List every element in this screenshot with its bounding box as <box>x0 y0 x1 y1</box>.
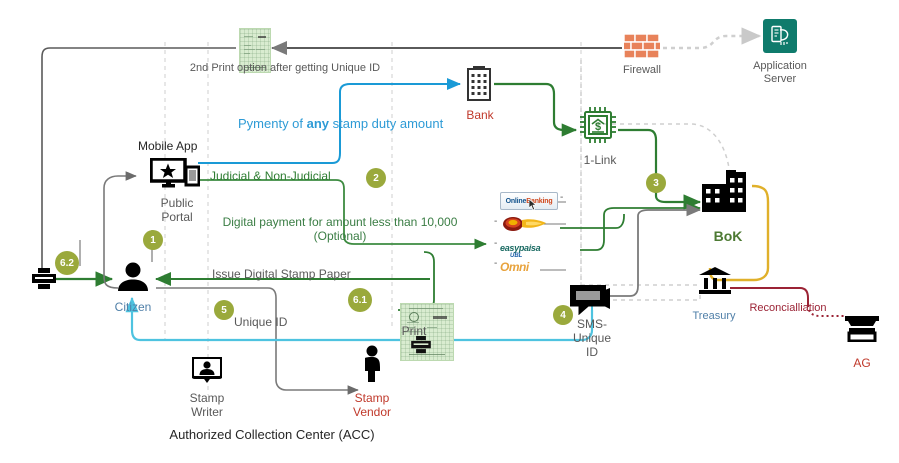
printer-left-icon <box>32 268 56 295</box>
edge-gateway-green-right <box>560 214 624 228</box>
logo-bullet-3: - <box>494 238 497 250</box>
print-top-caption: 2nd Print option after getting Unique ID <box>190 62 380 75</box>
stamp-writer-caption: Stamp Writer <box>190 392 225 420</box>
mobile-app-icon <box>150 158 200 195</box>
citizen-caption: Citizen <box>115 301 152 315</box>
sms-icon <box>570 285 612 320</box>
jazzcash-glyph <box>502 216 548 232</box>
one-link-icon: $ <box>578 104 618 151</box>
omni-label: Omni <box>500 260 529 274</box>
treasury-icon <box>698 267 732 300</box>
edge-unique-id-to-vendor <box>156 288 358 390</box>
stamp-writer-line1: Stamp <box>190 392 225 406</box>
bok-caption: BoK <box>714 228 743 244</box>
payment-any-emphasis: any <box>307 116 329 131</box>
badge-1: 1 <box>143 230 163 250</box>
badge-5: 5 <box>214 300 234 320</box>
badge-6-1: 6.1 <box>348 288 372 312</box>
judicial-label: Judicial & Non-Judicial <box>210 170 331 184</box>
badge-2: 2 <box>366 168 386 188</box>
app-server-caption: Application Server <box>753 60 807 85</box>
payment-any-prefix: Pymenty of <box>238 116 307 131</box>
badge-3: 3 <box>646 173 666 193</box>
edge-firewall-vertical <box>581 60 700 300</box>
app-server-caption-line2: Server <box>753 73 807 86</box>
bank-icon <box>464 66 494 107</box>
public-portal-line2: Portal <box>161 211 194 225</box>
print-caption: Print <box>402 325 427 339</box>
edge-print-left-down <box>42 48 236 268</box>
public-portal-caption: Public Portal <box>161 197 194 225</box>
logo-bullet-2: - <box>494 216 497 228</box>
sms-line3: ID <box>573 346 611 360</box>
edge-sms-to-bok <box>610 210 700 296</box>
sms-caption: SMS- Unique ID <box>573 318 611 359</box>
acc-footer-label: Authorized Collection Center (ACC) <box>169 428 374 443</box>
svg-text:$: $ <box>595 121 601 133</box>
edge-bank-to-1link <box>494 84 576 130</box>
app-server-caption-line1: Application <box>753 60 807 73</box>
logo-onlinebanking[interactable]: OnlineBanking <box>500 192 558 210</box>
logo-bullet-4: - <box>494 258 497 270</box>
edge-print-stamp-loop <box>398 252 434 310</box>
logo-jazzcash[interactable] <box>502 216 548 237</box>
digital-payment-line1: Digital payment for amount less than 10,… <box>223 216 458 230</box>
stamp-vendor-icon <box>360 345 384 388</box>
omni-sup: UBL <box>510 253 522 259</box>
application-server-icon <box>763 19 797 53</box>
unique-id-label: Unique ID <box>234 316 287 330</box>
sms-line2: Unique <box>573 332 611 346</box>
bank-caption: Bank <box>466 109 493 123</box>
firewall-caption: Firewall <box>623 64 661 77</box>
logo-omni[interactable]: Omni UBL <box>500 258 529 276</box>
stamp-vendor-line1: Stamp <box>353 392 391 406</box>
digital-payment-label: Digital payment for amount less than 10,… <box>223 216 458 244</box>
sms-line1: SMS- <box>573 318 611 332</box>
issue-stamp-label: Issue Digital Stamp Paper <box>212 268 351 282</box>
edge-gateways-to-bok <box>580 208 700 250</box>
process-flow-diagram: 2nd Print option after getting Unique ID… <box>0 0 899 463</box>
digital-payment-line2: (Optional) <box>223 230 458 244</box>
stamp-writer-icon <box>192 357 222 390</box>
badge-4: 4 <box>553 305 573 325</box>
public-portal-line1: Public <box>161 197 194 211</box>
reconciliation-label: Reconcialliation <box>749 302 826 315</box>
payment-any-label: Pymenty of any stamp duty amount <box>238 117 443 132</box>
stamp-writer-line2: Writer <box>190 406 225 420</box>
easypaisa-label: easypaisa <box>500 243 540 253</box>
ag-icon <box>845 316 879 347</box>
ag-caption: AG <box>853 357 870 371</box>
onlinebanking-part1: Online <box>506 198 527 205</box>
stamp-vendor-caption: Stamp Vendor <box>353 392 391 420</box>
stamp-vendor-line2: Vendor <box>353 406 391 420</box>
edge-firewall-to-appserver <box>647 36 760 48</box>
bok-icon <box>702 170 754 217</box>
mobile-app-caption: Mobile App <box>138 140 197 154</box>
logo-bullet-1: - <box>560 192 563 204</box>
payment-any-suffix: stamp duty amount <box>329 116 443 131</box>
treasury-caption: Treasury <box>693 310 736 323</box>
citizen-icon <box>115 262 151 297</box>
badge-6-2: 6.2 <box>55 251 79 275</box>
one-link-caption: 1-Link <box>584 154 617 168</box>
firewall-icon <box>624 34 660 67</box>
